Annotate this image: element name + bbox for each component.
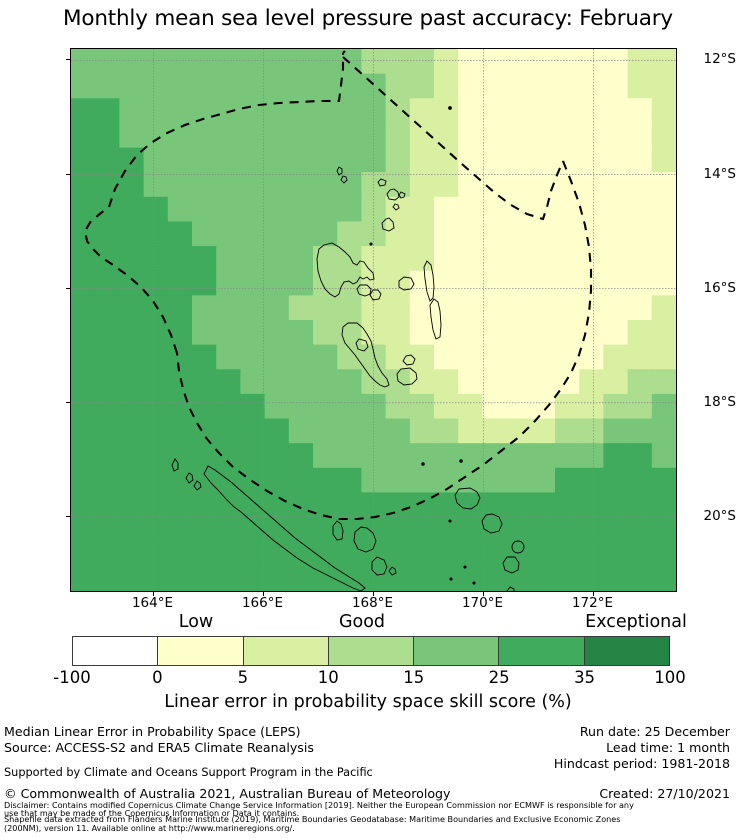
heat-cell: [410, 394, 435, 419]
heat-cell: [119, 74, 144, 99]
heat-cell: [410, 542, 435, 567]
heat-cell: [603, 295, 628, 320]
heat-cell: [119, 394, 144, 419]
heat-cell: [628, 295, 653, 320]
heat-cell: [579, 394, 604, 419]
heat-cell: [192, 123, 217, 148]
footer-copyright: © Commonwealth of Australia 2021, Austra…: [4, 786, 450, 801]
heat-cell: [119, 542, 144, 567]
heat-cell: [192, 468, 217, 493]
heat-cell: [216, 345, 241, 370]
heat-cell: [119, 271, 144, 296]
heat-cell: [168, 148, 193, 173]
heat-cell: [652, 246, 676, 271]
heat-cell: [482, 566, 507, 591]
heat-cell: [240, 542, 265, 567]
heat-cell: [603, 246, 628, 271]
heat-cell: [144, 98, 169, 123]
heat-cell: [603, 419, 628, 444]
heat-cell: [313, 443, 338, 468]
colorbar-segment-6: [584, 637, 669, 665]
heat-cell: [168, 221, 193, 246]
heat-cell: [482, 369, 507, 394]
heat-cell: [168, 74, 193, 99]
heat-cell: [168, 394, 193, 419]
heat-cell: [265, 468, 290, 493]
heat-cell: [289, 49, 314, 74]
colorbar-segment-3: [328, 637, 413, 665]
heat-cell: [434, 49, 459, 74]
y-axis-tickmark: [66, 174, 70, 175]
heat-cell: [337, 197, 362, 222]
heat-cell: [95, 148, 120, 173]
colorbar-tick-5: 5: [238, 668, 249, 687]
heat-cell: [531, 123, 556, 148]
heat-cell: [579, 74, 604, 99]
heat-cell: [434, 566, 459, 591]
heat-cell: [410, 49, 435, 74]
heat-cell: [95, 271, 120, 296]
heat-cell: [192, 271, 217, 296]
heat-cell: [410, 468, 435, 493]
heat-cell: [71, 542, 96, 567]
colorbar-segment-5: [498, 637, 583, 665]
heat-cell: [482, 221, 507, 246]
heat-cell: [337, 492, 362, 517]
heat-cell: [337, 295, 362, 320]
heat-cell: [71, 221, 96, 246]
x-axis-tick-166E: 166°E: [242, 595, 283, 611]
heat-cell: [386, 221, 411, 246]
heat-cell: [579, 123, 604, 148]
x-axis-tickmark: [263, 592, 264, 596]
colorbar-tick-0: 0: [152, 668, 163, 687]
heat-cell: [240, 98, 265, 123]
heat-cell: [386, 98, 411, 123]
heat-cell: [265, 148, 290, 173]
heat-cell: [240, 492, 265, 517]
heat-cell: [555, 74, 580, 99]
heat-cell: [628, 98, 653, 123]
heat-cell: [119, 320, 144, 345]
heat-cell: [410, 566, 435, 591]
heat-cell: [434, 394, 459, 419]
y-axis-tick-12S: 12°S: [672, 51, 736, 67]
heat-cell: [168, 345, 193, 370]
heat-cell: [240, 394, 265, 419]
colorbar-segment-4: [413, 637, 498, 665]
heat-cell: [289, 345, 314, 370]
heat-cell: [119, 369, 144, 394]
heat-cell: [144, 197, 169, 222]
heat-cell: [144, 148, 169, 173]
heat-cell: [313, 197, 338, 222]
heat-cell: [507, 246, 532, 271]
heat-cell: [144, 123, 169, 148]
heat-cell: [507, 123, 532, 148]
heat-cell: [579, 492, 604, 517]
heat-cell: [216, 492, 241, 517]
heat-cell: [603, 468, 628, 493]
heat-cell: [168, 517, 193, 542]
heat-cell: [168, 542, 193, 567]
heat-cell: [482, 148, 507, 173]
heat-cell: [216, 49, 241, 74]
heat-cell: [216, 517, 241, 542]
heat-cell: [531, 295, 556, 320]
heat-cell: [458, 98, 483, 123]
heat-cell: [555, 542, 580, 567]
heat-cell: [192, 369, 217, 394]
heat-cell: [95, 369, 120, 394]
heat-cell: [337, 172, 362, 197]
heat-cell: [652, 74, 676, 99]
heat-cell: [95, 443, 120, 468]
heat-cell: [386, 468, 411, 493]
heat-cell: [168, 369, 193, 394]
heat-cell: [507, 271, 532, 296]
heat-cell: [313, 468, 338, 493]
heat-cell: [289, 148, 314, 173]
heat-cell: [192, 517, 217, 542]
colorbar-tick-100: 100: [654, 668, 686, 687]
heat-cell: [192, 492, 217, 517]
colorbar-category-low: Low: [179, 612, 213, 632]
heat-cell: [95, 566, 120, 591]
heat-cell: [458, 542, 483, 567]
heat-cell: [458, 123, 483, 148]
heat-cell: [507, 74, 532, 99]
y-axis-tick-18S: 18°S: [672, 394, 736, 410]
heat-cell: [95, 517, 120, 542]
heat-cell: [579, 542, 604, 567]
heat-cell: [313, 74, 338, 99]
heat-cell: [579, 148, 604, 173]
heat-cell: [410, 246, 435, 271]
heat-cell: [289, 197, 314, 222]
heat-cell: [507, 468, 532, 493]
heat-cell: [628, 394, 653, 419]
heat-cell: [410, 172, 435, 197]
heat-cell: [240, 74, 265, 99]
heat-cell: [289, 295, 314, 320]
heat-cell: [168, 271, 193, 296]
heat-cell: [531, 74, 556, 99]
heat-cell: [628, 221, 653, 246]
heat-cell: [168, 172, 193, 197]
heat-cell: [313, 419, 338, 444]
heat-cell: [119, 566, 144, 591]
heat-cell: [337, 542, 362, 567]
heat-cell: [603, 271, 628, 296]
heat-cell: [240, 49, 265, 74]
heat-cell: [289, 443, 314, 468]
y-axis-tick-14S: 14°S: [672, 166, 736, 182]
heat-cell: [579, 419, 604, 444]
heat-cell: [603, 221, 628, 246]
heat-cell: [458, 197, 483, 222]
heat-cell: [386, 419, 411, 444]
heat-cell: [192, 295, 217, 320]
heat-cell: [289, 468, 314, 493]
colorbar-segment-0: [73, 637, 157, 665]
y-axis-tickmark: [66, 516, 70, 517]
heat-cell: [603, 492, 628, 517]
heat-cell: [216, 394, 241, 419]
heat-cell: [337, 148, 362, 173]
heat-cell: [216, 369, 241, 394]
heat-cell: [531, 98, 556, 123]
heat-cell: [410, 74, 435, 99]
heat-cell: [192, 172, 217, 197]
heat-cell: [555, 221, 580, 246]
colorbar-segment-2: [243, 637, 328, 665]
heat-cell: [482, 49, 507, 74]
heat-cell: [458, 443, 483, 468]
heat-cell: [386, 123, 411, 148]
heat-cell: [144, 443, 169, 468]
heat-cell: [265, 419, 290, 444]
heat-cell: [652, 369, 676, 394]
heat-cell: [458, 74, 483, 99]
heat-cell: [240, 443, 265, 468]
heat-cell: [71, 148, 96, 173]
heat-cell: [95, 492, 120, 517]
heat-cell: [531, 221, 556, 246]
heat-cell: [555, 123, 580, 148]
heat-cell: [95, 197, 120, 222]
footer-disclaimer-line-4: (200NM), version 11. Available online at…: [4, 824, 295, 833]
heat-cell: [313, 172, 338, 197]
heat-cell: [71, 123, 96, 148]
heat-cell: [555, 419, 580, 444]
heat-cell: [313, 492, 338, 517]
heat-cell: [652, 542, 676, 567]
heat-cell: [313, 271, 338, 296]
heat-cell: [95, 345, 120, 370]
heat-cell: [603, 49, 628, 74]
heat-cell: [458, 49, 483, 74]
heat-cell: [289, 221, 314, 246]
heat-cell: [482, 419, 507, 444]
heat-cell: [579, 246, 604, 271]
heat-cell: [216, 172, 241, 197]
heat-cell: [410, 221, 435, 246]
heat-cell: [603, 123, 628, 148]
heat-cell: [144, 74, 169, 99]
x-axis-tickmark: [483, 592, 484, 596]
heat-cell: [579, 172, 604, 197]
heat-cell: [603, 172, 628, 197]
heat-cell: [482, 172, 507, 197]
heat-cell: [337, 443, 362, 468]
heat-cell: [458, 148, 483, 173]
heat-cell: [168, 468, 193, 493]
heat-cell: [361, 443, 386, 468]
colorbar-tick-25: 25: [489, 668, 510, 687]
heat-cell: [531, 49, 556, 74]
heat-cell: [386, 394, 411, 419]
heat-cell: [71, 98, 96, 123]
heat-cell: [119, 49, 144, 74]
heat-cell: [168, 123, 193, 148]
heat-cell: [240, 123, 265, 148]
heat-cell: [579, 345, 604, 370]
colorbar-category-good: Good: [339, 612, 385, 632]
heat-cell: [192, 443, 217, 468]
heat-cell: [410, 148, 435, 173]
heat-cell: [386, 295, 411, 320]
heat-cell: [482, 394, 507, 419]
colorbar-category-labels: LowGoodExceptional: [0, 612, 736, 634]
heat-cell: [216, 221, 241, 246]
heat-cell: [628, 246, 653, 271]
heat-cell: [265, 443, 290, 468]
heat-cell: [603, 443, 628, 468]
heat-cell: [265, 246, 290, 271]
heat-cell: [628, 123, 653, 148]
heat-cell: [579, 443, 604, 468]
heat-cell: [240, 221, 265, 246]
heat-cell: [216, 123, 241, 148]
heat-cell: [216, 320, 241, 345]
heat-cell: [458, 345, 483, 370]
heat-cell: [652, 295, 676, 320]
heat-cell: [313, 98, 338, 123]
heat-cell: [95, 123, 120, 148]
heat-cell: [579, 468, 604, 493]
heat-cell: [652, 345, 676, 370]
heat-cell: [434, 320, 459, 345]
heat-cell: [628, 419, 653, 444]
heat-cell: [507, 320, 532, 345]
heat-cell: [240, 419, 265, 444]
heat-cell: [458, 394, 483, 419]
heat-cell: [119, 197, 144, 222]
heat-cell: [119, 419, 144, 444]
map-plot-area[interactable]: [70, 48, 677, 592]
heat-cell: [71, 566, 96, 591]
heat-cell: [652, 468, 676, 493]
heat-cell: [289, 369, 314, 394]
heat-cell: [265, 345, 290, 370]
heat-cell: [240, 295, 265, 320]
heat-cell: [216, 246, 241, 271]
heat-cell: [192, 74, 217, 99]
heat-cell: [555, 492, 580, 517]
heat-cell: [265, 123, 290, 148]
heat-cell: [482, 246, 507, 271]
heat-cell: [265, 542, 290, 567]
heat-cell: [386, 246, 411, 271]
heat-cell: [458, 517, 483, 542]
heat-cell: [168, 197, 193, 222]
colorbar-category-exceptional: Exceptional: [585, 612, 687, 632]
heat-cell: [603, 542, 628, 567]
heat-cell: [628, 443, 653, 468]
heat-cell: [482, 320, 507, 345]
heat-cell: [628, 197, 653, 222]
heat-cell: [386, 443, 411, 468]
heat-cell: [192, 221, 217, 246]
heat-cell: [119, 517, 144, 542]
footer-metric-name: Median Linear Error in Probability Space…: [4, 724, 300, 739]
heat-cell: [482, 443, 507, 468]
heat-cell: [603, 320, 628, 345]
heat-cell: [410, 517, 435, 542]
heat-cell: [313, 148, 338, 173]
heat-cell: [434, 148, 459, 173]
heat-cell: [386, 271, 411, 296]
heat-cell: [531, 369, 556, 394]
heat-cell: [555, 98, 580, 123]
heat-cell: [289, 394, 314, 419]
heat-cell: [95, 74, 120, 99]
heat-cell: [168, 98, 193, 123]
heat-cell: [95, 419, 120, 444]
heat-cell: [386, 517, 411, 542]
heat-cell: [579, 566, 604, 591]
heat-cell: [192, 419, 217, 444]
heat-cell: [337, 221, 362, 246]
heat-cell: [192, 394, 217, 419]
heat-cell: [265, 394, 290, 419]
heat-cell: [289, 492, 314, 517]
heat-cell: [240, 246, 265, 271]
heat-cell: [434, 74, 459, 99]
x-axis-tickmark: [373, 592, 374, 596]
heat-cell: [434, 443, 459, 468]
colorbar[interactable]: [72, 636, 670, 666]
heat-cell: [313, 49, 338, 74]
heat-cell: [192, 246, 217, 271]
heat-cell: [458, 320, 483, 345]
heat-cell: [555, 394, 580, 419]
heat-cell: [652, 123, 676, 148]
heat-cell: [531, 517, 556, 542]
heat-cell: [507, 98, 532, 123]
heat-cell: [603, 394, 628, 419]
heat-cell: [144, 271, 169, 296]
heat-cell: [71, 197, 96, 222]
heat-cell: [265, 271, 290, 296]
heat-cell: [361, 246, 386, 271]
heat-cell: [71, 394, 96, 419]
heat-cell: [507, 221, 532, 246]
heat-cell: [289, 517, 314, 542]
heat-cell: [144, 320, 169, 345]
heat-cell: [71, 320, 96, 345]
heat-cell: [313, 221, 338, 246]
heat-cell: [628, 148, 653, 173]
heat-cell: [265, 197, 290, 222]
heat-cell: [216, 443, 241, 468]
heat-cell: [507, 369, 532, 394]
heat-cell: [434, 246, 459, 271]
heat-cell: [192, 98, 217, 123]
heat-cell: [434, 172, 459, 197]
heat-cell: [337, 468, 362, 493]
heat-cell: [119, 468, 144, 493]
heat-cell: [313, 345, 338, 370]
heat-cell: [482, 271, 507, 296]
heat-cell: [144, 246, 169, 271]
heat-cell: [168, 295, 193, 320]
heat-cell: [458, 221, 483, 246]
heat-cell: [95, 49, 120, 74]
heat-cell: [628, 271, 653, 296]
heat-cell: [555, 443, 580, 468]
